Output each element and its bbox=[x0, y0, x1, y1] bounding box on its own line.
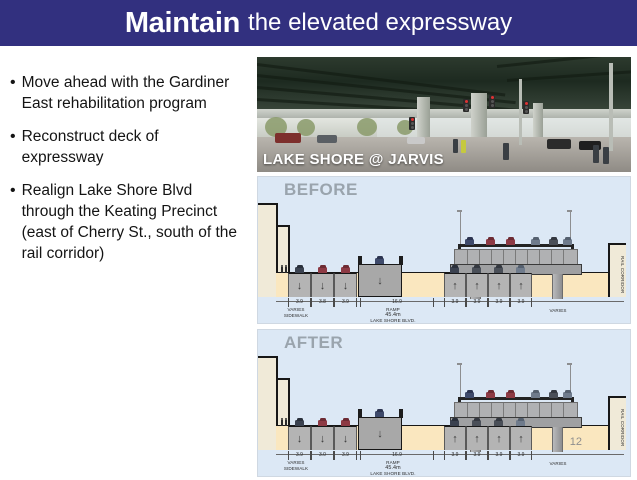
photo-lightpole bbox=[609, 63, 613, 151]
boulevard-vehicle bbox=[450, 420, 459, 426]
expressway-vehicle bbox=[506, 392, 515, 398]
rail-corridor-label: RAIL CORRIDOR bbox=[619, 256, 625, 293]
expressway-lamp-post bbox=[460, 364, 461, 398]
traffic-light-icon bbox=[463, 99, 469, 112]
cross-section-after: AFTER bbox=[257, 329, 631, 477]
bullet-marker-icon: • bbox=[10, 180, 16, 201]
boulevard-vehicle bbox=[341, 267, 350, 273]
dimension-value: 3.0 bbox=[312, 451, 333, 460]
boulevard-vehicle bbox=[494, 420, 503, 426]
expressway-vehicle bbox=[465, 239, 474, 245]
dimension: 3.9 bbox=[444, 451, 466, 460]
photo-caption: LAKE SHORE @ JARVIS bbox=[263, 151, 444, 168]
boulevard-vehicle bbox=[295, 420, 304, 426]
dimension: 3.9 bbox=[288, 298, 311, 307]
dimension: 3.9 bbox=[510, 451, 532, 460]
expressway-vehicle bbox=[549, 392, 558, 398]
bullet-text: Move ahead with the Gardiner East rehabi… bbox=[22, 72, 244, 114]
dimension-value: 3.9 bbox=[335, 451, 356, 460]
section-label: BEFORE bbox=[284, 180, 358, 200]
traffic-light-icon bbox=[409, 117, 415, 130]
expressway-lamp-head bbox=[567, 363, 572, 365]
dimension-value: 3.9 bbox=[511, 298, 531, 307]
expressway-column bbox=[552, 274, 563, 299]
dimension: 3.9 bbox=[488, 298, 510, 307]
ramp-vehicle bbox=[375, 258, 384, 264]
expressway-vehicle bbox=[531, 239, 540, 245]
ramp-structure: ↓ bbox=[358, 264, 402, 297]
expressway-vehicle bbox=[486, 392, 495, 398]
dimension-value: 3.9 bbox=[445, 298, 465, 307]
photo-column bbox=[471, 93, 487, 143]
lane-direction-arrow: ↑ bbox=[452, 434, 458, 444]
slide: Maintain the elevated expressway • Move … bbox=[0, 0, 637, 480]
photo-overhead-deck bbox=[257, 57, 631, 111]
boulevard-vehicle bbox=[472, 267, 481, 273]
left-building-profile bbox=[258, 203, 278, 297]
title-emphasis: Maintain bbox=[125, 8, 240, 38]
bullet-text: Realign Lake Shore Blvd through the Keat… bbox=[22, 180, 244, 264]
photo-pedestrian bbox=[503, 143, 509, 160]
photo-tree bbox=[357, 118, 377, 136]
boulevard-vehicle bbox=[295, 267, 304, 273]
photo-car bbox=[275, 133, 301, 143]
dimension: 3.9 bbox=[510, 298, 532, 307]
dimension-value: 16.9 bbox=[361, 298, 433, 307]
section-label: AFTER bbox=[284, 333, 343, 353]
lane-westbound: ↓ bbox=[288, 426, 311, 450]
photo-soffit bbox=[257, 109, 631, 118]
photo-pedestrian bbox=[603, 147, 609, 164]
photo-car bbox=[317, 135, 337, 143]
pedestrian-icon bbox=[285, 420, 287, 426]
lane-direction-arrow: ↑ bbox=[452, 281, 458, 291]
boulevard-vehicle bbox=[318, 420, 327, 426]
lane-westbound: ↓ bbox=[334, 426, 357, 450]
lane-direction-arrow: ↑ bbox=[474, 281, 480, 291]
underpass-photo: LAKE SHORE @ JARVIS bbox=[257, 57, 631, 172]
lane-direction-arrow: ↓ bbox=[297, 434, 303, 444]
expressway-vehicle bbox=[465, 392, 474, 398]
lane-eastbound: ↑ bbox=[510, 273, 532, 297]
photo-pedestrian bbox=[593, 145, 599, 163]
dimension: 3.9 bbox=[334, 451, 357, 460]
lane-direction-arrow: ↓ bbox=[320, 434, 326, 444]
ramp-vehicle bbox=[375, 411, 384, 417]
lane-direction-arrow: ↓ bbox=[320, 281, 326, 291]
bullet-marker-icon: • bbox=[10, 126, 16, 147]
expressway-vehicle bbox=[486, 239, 495, 245]
boulevard-vehicle bbox=[516, 267, 525, 273]
dimension: 3.9 bbox=[334, 298, 357, 307]
dimension: 3.9 bbox=[288, 451, 311, 460]
expressway-girder bbox=[454, 402, 578, 418]
lane-eastbound: ↑ bbox=[466, 426, 488, 450]
lane-eastbound: ↑ bbox=[510, 426, 532, 450]
dimension-value: 3.9 bbox=[511, 451, 531, 460]
foot-boulevard: LAKE SHORE BLVD. bbox=[348, 318, 438, 324]
dimension: 3.9 bbox=[488, 451, 510, 460]
expressway-lamp-head bbox=[457, 363, 462, 365]
expressway-vehicle bbox=[506, 239, 515, 245]
title-rest: the elevated expressway bbox=[248, 8, 512, 38]
boulevard-vehicle bbox=[472, 420, 481, 426]
dimension-value: 3.9 bbox=[335, 298, 356, 307]
dimension: 16.9 bbox=[360, 451, 434, 460]
media-column: LAKE SHORE @ JARVIS BEFORE bbox=[257, 57, 631, 477]
foot-sidewalk: SIDEWALK bbox=[274, 466, 318, 472]
foot-boulevard: LAKE SHORE BLVD. bbox=[348, 471, 438, 477]
lane-eastbound: ↑ bbox=[466, 273, 488, 297]
dimension-value: 3.9 bbox=[289, 451, 310, 460]
dimension: 3.0 bbox=[311, 451, 334, 460]
dimension-value: 3.9 bbox=[445, 451, 465, 460]
boulevard-vehicle bbox=[318, 267, 327, 273]
lane-direction-arrow: ↑ bbox=[496, 281, 502, 291]
expressway-column bbox=[552, 427, 563, 452]
photo-column bbox=[417, 97, 430, 142]
lane-westbound: ↓ bbox=[288, 273, 311, 297]
dimension-value: 3.9 bbox=[289, 298, 310, 307]
lane-direction-arrow: ↓ bbox=[297, 281, 303, 291]
lane-direction-arrow: ↓ bbox=[343, 434, 349, 444]
lane-direction-arrow: ↑ bbox=[518, 281, 524, 291]
expressway-lamp-head bbox=[457, 210, 462, 212]
lane-eastbound: ↑ bbox=[444, 273, 466, 297]
dimension-value: 3.8 bbox=[312, 298, 333, 307]
cross-section-before: BEFORE bbox=[257, 176, 631, 324]
photo-pedestrian bbox=[453, 139, 458, 153]
ramp-structure: ↓ bbox=[358, 417, 402, 450]
rail-corridor-label: RAIL CORRIDOR bbox=[619, 409, 625, 446]
dimension-value: 3.9 bbox=[489, 298, 509, 307]
pedestrian-icon bbox=[285, 267, 287, 273]
lane-eastbound: ↑ bbox=[488, 426, 510, 450]
lane-direction-arrow: ↑ bbox=[518, 434, 524, 444]
dimension-strip: 3.9 3.8 3.9 16.9 3.9 3.9 3.9 3.9 bbox=[276, 297, 624, 307]
expressway-vehicle bbox=[563, 392, 572, 398]
foot-varies-right: VARIES bbox=[528, 461, 588, 467]
boulevard-vehicle bbox=[494, 267, 503, 273]
section-footer: VARIES SIDEWALK RAMP 45.4m LAKE SHORE BL… bbox=[258, 307, 631, 323]
lane-direction-arrow: ↓ bbox=[343, 281, 349, 291]
photo-lightpole bbox=[519, 79, 522, 145]
photo-pedestrian bbox=[461, 140, 466, 153]
expressway-girder bbox=[454, 249, 578, 265]
left-building-profile bbox=[258, 356, 278, 450]
dimension: 3.9 bbox=[444, 298, 466, 307]
section-footer: VARIES SIDEWALK RAMP 45.4m LAKE SHORE BL… bbox=[258, 460, 631, 476]
ramp-direction-arrow: ↓ bbox=[377, 276, 383, 286]
expressway-vehicle bbox=[549, 239, 558, 245]
bullet-marker-icon: • bbox=[10, 72, 16, 93]
expressway-vehicle bbox=[563, 239, 572, 245]
dimension-value: 3.9 bbox=[467, 298, 487, 307]
pedestrian-icon bbox=[281, 420, 283, 426]
page-number: 12 bbox=[570, 436, 582, 448]
boulevard-vehicle bbox=[450, 267, 459, 273]
lane-eastbound: ↑ bbox=[444, 426, 466, 450]
list-item: • Realign Lake Shore Blvd through the Ke… bbox=[10, 180, 244, 264]
dimension: 3.9 bbox=[466, 451, 488, 460]
dimension: 16.9 bbox=[360, 298, 434, 307]
lane-direction-arrow: ↑ bbox=[496, 434, 502, 444]
photo-car bbox=[547, 139, 571, 149]
lane-westbound: ↓ bbox=[334, 273, 357, 297]
boulevard-vehicle bbox=[516, 420, 525, 426]
photo-car bbox=[407, 137, 425, 144]
dimension-value: 3.9 bbox=[467, 451, 487, 460]
traffic-light-icon bbox=[523, 101, 529, 114]
bullet-text: Reconstruct deck of expressway bbox=[22, 126, 244, 168]
dimension-strip: 3.9 3.0 3.9 16.9 3.9 3.9 3.9 3.9 bbox=[276, 450, 624, 460]
lane-westbound: ↓ bbox=[311, 426, 334, 450]
list-item: • Move ahead with the Gardiner East reha… bbox=[10, 72, 244, 114]
pedestrian-icon bbox=[281, 267, 283, 273]
expressway-lamp-head bbox=[567, 210, 572, 212]
lane-direction-arrow: ↑ bbox=[474, 434, 480, 444]
dimension-value: 3.9 bbox=[489, 451, 509, 460]
expressway-vehicle bbox=[531, 392, 540, 398]
boulevard-vehicle bbox=[341, 420, 350, 426]
traffic-light-icon bbox=[489, 95, 495, 108]
expressway-lamp-post bbox=[460, 211, 461, 245]
dimension: 3.8 bbox=[311, 298, 334, 307]
bullet-list: • Move ahead with the Gardiner East reha… bbox=[10, 72, 244, 276]
foot-varies-right: VARIES bbox=[528, 308, 588, 314]
foot-sidewalk: SIDEWALK bbox=[274, 313, 318, 319]
lane-westbound: ↓ bbox=[311, 273, 334, 297]
title-banner: Maintain the elevated expressway bbox=[0, 0, 637, 46]
list-item: • Reconstruct deck of expressway bbox=[10, 126, 244, 168]
ramp-direction-arrow: ↓ bbox=[377, 429, 383, 439]
lane-eastbound: ↑ bbox=[488, 273, 510, 297]
dimension: 3.9 bbox=[466, 298, 488, 307]
dimension-value: 16.9 bbox=[361, 451, 433, 460]
